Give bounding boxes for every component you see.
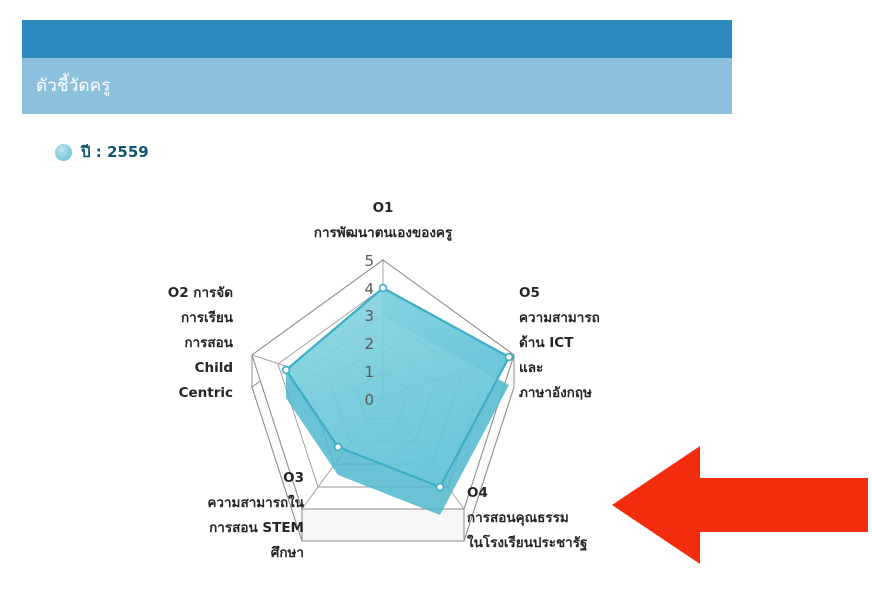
axis-label-o2-line-3: Child [168, 356, 233, 381]
left-arrow-svg [612, 442, 868, 568]
page-root: ตัวชี้วัดครู ปี : 2559 [0, 0, 872, 602]
page-title: ตัวชี้วัดครู [36, 72, 111, 99]
axis-label-o5: O5 ความสามารถ ด้าน ICT และ ภาษาอังกฤษ [519, 281, 600, 406]
axis-label-o2-line-1: การเรียน [168, 306, 233, 331]
axis-label-o3-line-1: ความสามารถใน [207, 491, 304, 516]
tick-label-3: 3 [364, 307, 374, 325]
tick-label-0: 0 [364, 391, 374, 409]
axis-label-o1-line-1: การพัฒนาตนเองของครู [314, 221, 452, 246]
circle-swatch-icon [55, 144, 72, 161]
tick-label-2: 2 [364, 335, 374, 353]
axis-label-o3: O3 ความสามารถใน การสอน STEM ศึกษา [207, 466, 304, 566]
legend-item-label: ปี : 2559 [81, 140, 149, 164]
axis-label-o5-line-4: ภาษาอังกฤษ [519, 381, 600, 406]
radar-grid-rings [278, 288, 488, 487]
axis-label-o2-line-4: Centric [168, 381, 233, 406]
axis-label-o5-line-2: ด้าน ICT [519, 331, 600, 356]
axis-label-o2-line-0: O2 การจัด [168, 281, 233, 306]
radar-data-points [283, 285, 513, 491]
axis-label-o5-line-3: และ [519, 356, 600, 381]
axis-label-o3-line-2: การสอน STEM [207, 516, 304, 541]
axis-label-o3-line-3: ศึกษา [207, 541, 304, 566]
chart-legend[interactable]: ปี : 2559 [55, 140, 149, 164]
header-top-bar [22, 20, 732, 58]
radar-tick-labels: 5 4 3 2 1 0 [364, 252, 374, 409]
tick-label-1: 1 [364, 363, 374, 381]
axis-label-o2-line-2: การสอน [168, 331, 233, 356]
header-title-bar [22, 58, 732, 114]
axis-label-o4: O4 การสอนคุณธรรม ในโรงเรียนประชารัฐ [467, 481, 587, 556]
axis-label-o2: O2 การจัด การเรียน การสอน Child Centric [168, 281, 233, 406]
axis-label-o3-line-0: O3 [207, 466, 304, 491]
axis-label-o1: O1 การพัฒนาตนเองของครู [314, 196, 452, 246]
axis-label-o4-line-2: ในโรงเรียนประชารัฐ [467, 531, 587, 556]
left-arrow-icon [612, 442, 868, 568]
tick-label-5: 5 [364, 252, 374, 270]
axis-label-o1-line-0: O1 [314, 196, 452, 221]
axis-label-o4-line-0: O4 [467, 481, 587, 506]
axis-label-o5-line-0: O5 [519, 281, 600, 306]
axis-label-o4-line-1: การสอนคุณธรรม [467, 506, 587, 531]
tick-label-4: 4 [364, 280, 374, 298]
axis-label-o5-line-1: ความสามารถ [519, 306, 600, 331]
